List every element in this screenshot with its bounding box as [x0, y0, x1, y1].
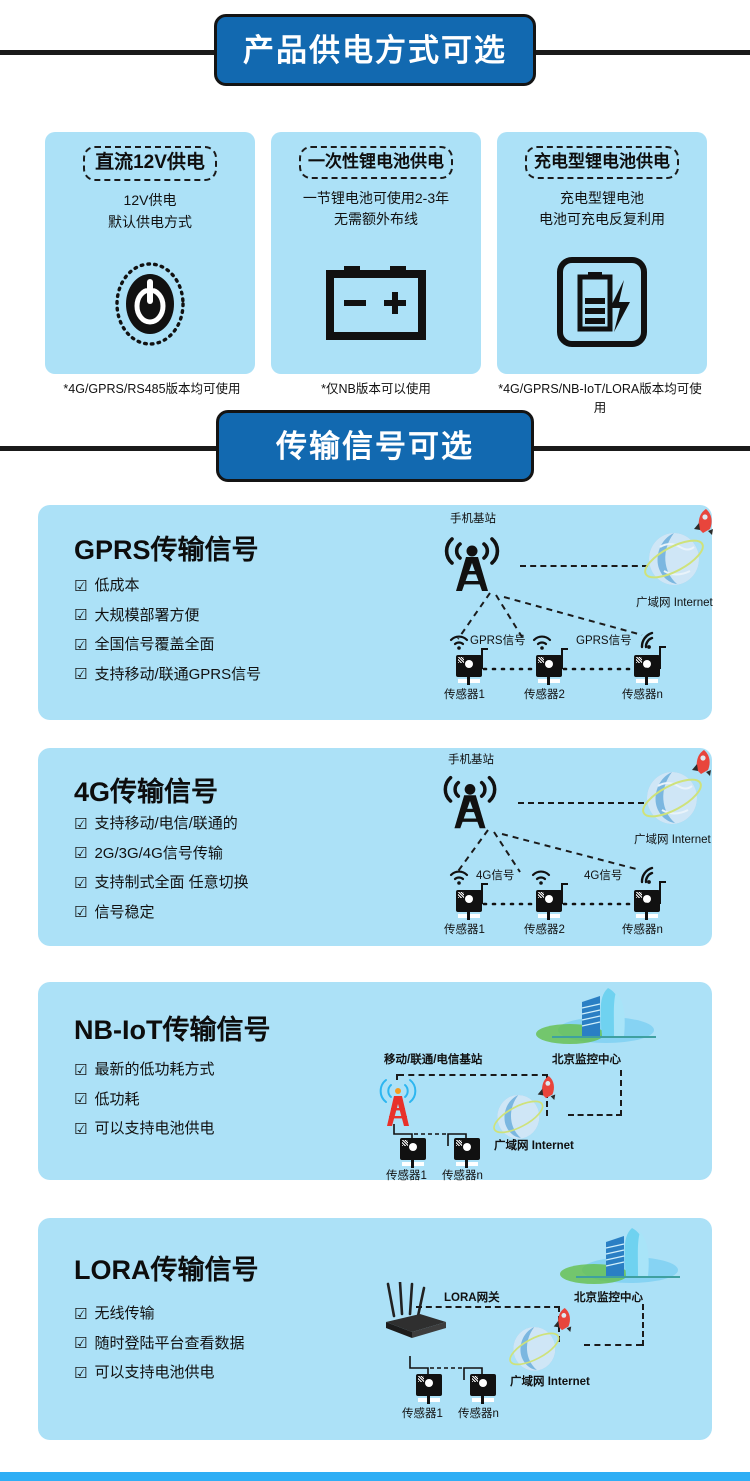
- check-icon: ☑: [74, 1063, 87, 1078]
- label-base-station: 手机基站: [448, 754, 494, 767]
- diagram-nbiot: 移动/联通/电信基站 北京监控中心: [338, 982, 712, 1180]
- check-icon: ☑: [74, 667, 87, 682]
- power-card-subtext: 充电型锂电池 电池可充电反复利用: [539, 188, 665, 231]
- check-icon: ☑: [74, 608, 87, 623]
- label-internet: 广域网 Internet: [510, 1376, 590, 1389]
- transmission-card-4g[interactable]: 4G传输信号 ☑支持移动/电信/联通的 ☑2G/3G/4G信号传输 ☑支持制式全…: [38, 748, 712, 946]
- transmission-card-lora[interactable]: LORA传输信号 ☑无线传输 ☑随时登陆平台查看数据 ☑可以支持电池供电 北京监…: [38, 1218, 712, 1440]
- transmission-title-gprs: GPRS传输信号: [74, 528, 259, 567]
- section-banner-power: 产品供电方式可选: [0, 14, 750, 88]
- list-item: ☑随时登陆平台查看数据: [74, 1336, 244, 1353]
- banner-title-power: 产品供电方式可选: [243, 35, 507, 66]
- power-card-subline: 一节锂电池可使用2-3年: [303, 188, 449, 210]
- lora-gateway-router-icon: [380, 1282, 452, 1346]
- label-internet: 广域网 Internet: [494, 1140, 574, 1153]
- feature-label: 支持移动/联通GPRS信号: [94, 667, 261, 684]
- power-card-subline: 12V供电: [108, 190, 192, 212]
- link-gateway-internet: [416, 1306, 560, 1308]
- power-card-title: 直流12V供电: [83, 146, 217, 181]
- car-battery-icon: [324, 231, 428, 374]
- link-internet-center: [568, 1114, 622, 1116]
- list-item: ☑支持制式全面 任意切换: [74, 875, 249, 892]
- check-icon: ☑: [74, 579, 87, 594]
- bottom-accent-strip: [0, 1472, 750, 1481]
- diagram-gprs: 手机基站: [398, 505, 712, 720]
- check-icon: ☑: [74, 1366, 87, 1381]
- list-item: ☑2G/3G/4G信号传输: [74, 846, 249, 863]
- list-item: ☑可以支持电池供电: [74, 1365, 244, 1382]
- feature-list-gprs: ☑低成本 ☑大规模部署方便 ☑全国信号覆盖全面 ☑支持移动/联通GPRS信号: [74, 578, 261, 696]
- check-icon: ☑: [74, 1092, 87, 1107]
- check-icon: ☑: [74, 638, 87, 653]
- feature-label: 2G/3G/4G信号传输: [94, 846, 222, 863]
- sensor-bus-line: [456, 645, 666, 673]
- list-item: ☑无线传输: [74, 1306, 244, 1323]
- power-button-icon: [107, 233, 193, 374]
- power-card-dc12v[interactable]: 直流12V供电 12V供电 默认供电方式: [45, 132, 255, 374]
- list-item: ☑最新的低功耗方式: [74, 1062, 214, 1079]
- label-sensor: 传感器2: [524, 924, 565, 937]
- feature-label: 无线传输: [94, 1306, 154, 1323]
- check-icon: ☑: [74, 1307, 87, 1322]
- feature-label: 最新的低功耗方式: [94, 1062, 214, 1079]
- transmission-card-gprs[interactable]: GPRS传输信号 ☑低成本 ☑大规模部署方便 ☑全国信号覆盖全面 ☑支持移动/联…: [38, 505, 712, 720]
- label-sensor: 传感器n: [622, 924, 663, 937]
- power-card-subtext: 一节锂电池可使用2-3年 无需额外布线: [303, 188, 449, 231]
- diagram-4g: 手机基站: [398, 748, 712, 946]
- feature-label: 支持移动/电信/联通的: [94, 816, 237, 833]
- transmission-card-nbiot[interactable]: NB-IoT传输信号 ☑最新的低功耗方式 ☑低功耗 ☑可以支持电池供电 移动/联…: [38, 982, 712, 1180]
- label-sensor: 传感器1: [444, 689, 485, 702]
- check-icon: ☑: [74, 905, 87, 920]
- banner-pill-transmission: 传输信号可选: [216, 410, 534, 482]
- diagram-lora: 北京监控中心 LORA网关: [358, 1218, 712, 1440]
- link-internet-center: [584, 1344, 642, 1346]
- feature-label: 支持制式全面 任意切换: [94, 875, 248, 892]
- label-sensor: 传感器2: [524, 689, 565, 702]
- list-item: ☑低功耗: [74, 1092, 214, 1109]
- check-icon: ☑: [74, 817, 87, 832]
- sensor-bus-line: [456, 880, 666, 908]
- list-item: ☑大规模部署方便: [74, 608, 261, 625]
- power-card-title: 一次性锂电池供电: [299, 146, 453, 179]
- power-card-title: 充电型锂电池供电: [525, 146, 679, 179]
- list-item: ☑低成本: [74, 578, 261, 595]
- transmission-title-lora: LORA传输信号: [74, 1248, 259, 1287]
- link-tower-internet: [520, 565, 648, 567]
- section-banner-transmission: 传输信号可选: [0, 410, 750, 484]
- label-monitor-center: 北京监控中心: [552, 1054, 621, 1067]
- label-base-station: 手机基站: [450, 513, 496, 526]
- power-card-primary-lithium[interactable]: 一次性锂电池供电 一节锂电池可使用2-3年 无需额外布线: [271, 132, 481, 374]
- label-gateway: LORA网关: [444, 1292, 500, 1305]
- power-card-subline: 无需额外布线: [303, 209, 449, 231]
- power-card-subline: 充电型锂电池: [539, 188, 665, 210]
- power-card-subtext: 12V供电 默认供电方式: [108, 190, 192, 233]
- city-building-icon: [554, 1224, 684, 1290]
- transmission-title-4g: 4G传输信号: [74, 770, 218, 809]
- sensor-device-icon: [470, 1374, 496, 1404]
- banner-title-transmission: 传输信号可选: [276, 431, 474, 462]
- power-card-rechargeable-lithium[interactable]: 充电型锂电池供电 充电型锂电池 电池可充电反复利用: [497, 132, 707, 374]
- feature-list-4g: ☑支持移动/电信/联通的 ☑2G/3G/4G信号传输 ☑支持制式全面 任意切换 …: [74, 816, 249, 934]
- sensor-device-icon: [400, 1138, 426, 1168]
- label-base-station: 移动/联通/电信基站: [384, 1054, 482, 1067]
- feature-label: 大规模部署方便: [94, 608, 199, 625]
- feature-list-lora: ☑无线传输 ☑随时登陆平台查看数据 ☑可以支持电池供电: [74, 1306, 244, 1395]
- check-icon: ☑: [74, 846, 87, 861]
- sensor-device-icon: [454, 1138, 480, 1168]
- feature-list-nbiot: ☑最新的低功耗方式 ☑低功耗 ☑可以支持电池供电: [74, 1062, 214, 1151]
- power-card-subline: 默认供电方式: [108, 212, 192, 234]
- list-item: ☑全国信号覆盖全面: [74, 637, 261, 654]
- list-item: ☑可以支持电池供电: [74, 1121, 214, 1138]
- check-icon: ☑: [74, 1122, 87, 1137]
- list-item: ☑支持移动/联通GPRS信号: [74, 667, 261, 684]
- label-sensor: 传感器n: [458, 1408, 499, 1421]
- feature-label: 低功耗: [94, 1092, 139, 1109]
- power-card-subline: 电池可充电反复利用: [539, 209, 665, 231]
- link-basestation-center: [398, 1074, 548, 1076]
- check-icon: ☑: [74, 1336, 87, 1351]
- link-center-down: [642, 1304, 644, 1346]
- rocket-icon: [534, 1074, 558, 1102]
- sensor-device-icon: [416, 1374, 442, 1404]
- feature-label: 随时登陆平台查看数据: [94, 1336, 244, 1353]
- label-sensor: 传感器1: [386, 1170, 427, 1183]
- rocket-icon: [688, 748, 714, 778]
- power-options-row: 直流12V供电 12V供电 默认供电方式 一次性锂电池供电 一节锂电池可使用2-…: [45, 132, 707, 374]
- check-icon: ☑: [74, 876, 87, 891]
- feature-label: 可以支持电池供电: [94, 1121, 214, 1138]
- rechargeable-battery-icon: [556, 231, 648, 374]
- rocket-icon: [690, 507, 716, 537]
- banner-pill-power: 产品供电方式可选: [214, 14, 536, 86]
- link-tower-internet: [518, 802, 644, 804]
- rocket-icon: [550, 1306, 574, 1334]
- cell-tower-icon: [426, 529, 518, 599]
- label-sensor: 传感器n: [442, 1170, 483, 1183]
- list-item: ☑支持移动/电信/联通的: [74, 816, 249, 833]
- feature-label: 全国信号覆盖全面: [94, 637, 214, 654]
- transmission-title-nbiot: NB-IoT传输信号: [74, 1008, 270, 1047]
- link-tower-up: [396, 1074, 398, 1080]
- city-building-icon: [530, 986, 660, 1048]
- feature-label: 可以支持电池供电: [94, 1365, 214, 1382]
- feature-label: 低成本: [94, 578, 139, 595]
- link-center-down: [620, 1070, 622, 1116]
- label-monitor-center: 北京监控中心: [574, 1292, 643, 1305]
- label-sensor: 传感器1: [444, 924, 485, 937]
- label-sensor: 传感器1: [402, 1408, 443, 1421]
- label-sensor: 传感器n: [622, 689, 663, 702]
- cell-tower-icon: [424, 768, 516, 836]
- list-item: ☑信号稳定: [74, 905, 249, 922]
- feature-label: 信号稳定: [94, 905, 154, 922]
